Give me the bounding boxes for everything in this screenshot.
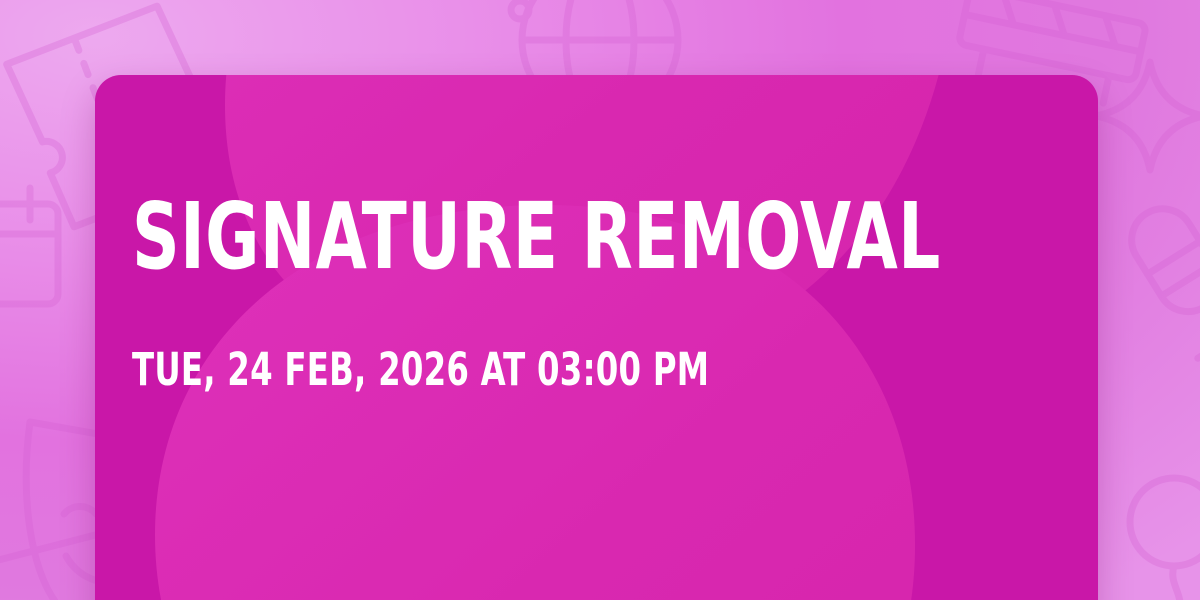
event-card-canvas: SIGNATURE REMOVAL TUE, 24 FEB, 2026 AT 0…: [0, 0, 1200, 600]
event-card-content: SIGNATURE REMOVAL TUE, 24 FEB, 2026 AT 0…: [132, 191, 1032, 392]
calendar-icon: [0, 188, 58, 304]
dot-decor: [511, 1, 529, 19]
event-datetime: TUE, 24 FEB, 2026 AT 03:00 PM: [132, 347, 852, 392]
sparkle-icon: [1096, 62, 1200, 170]
balloon-icon: [1130, 478, 1200, 600]
microphone-icon: [1118, 196, 1200, 358]
event-title: SIGNATURE REMOVAL: [132, 191, 852, 283]
event-card[interactable]: SIGNATURE REMOVAL TUE, 24 FEB, 2026 AT 0…: [95, 75, 1098, 600]
